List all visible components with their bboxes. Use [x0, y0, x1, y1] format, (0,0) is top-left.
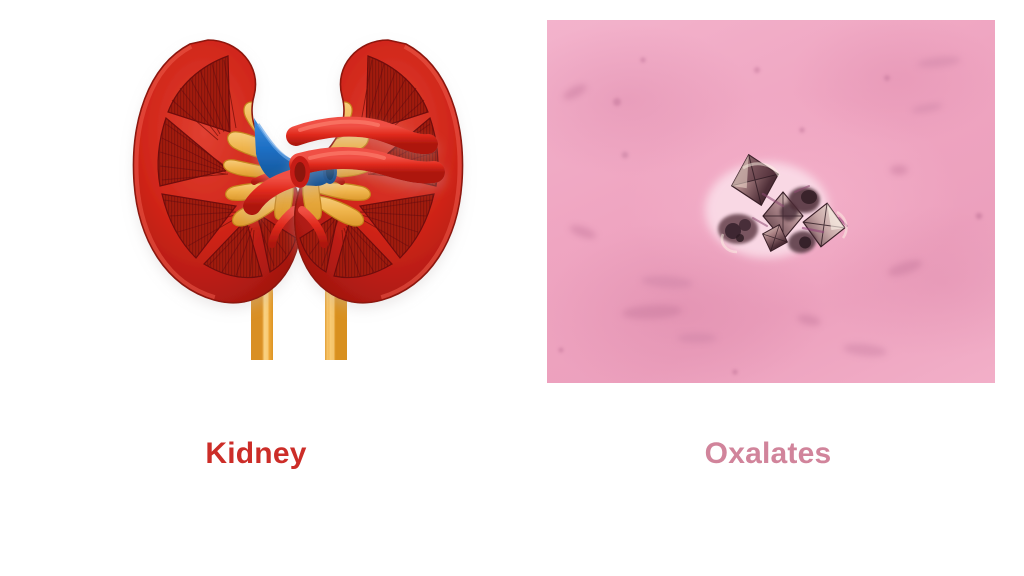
crystal-clump-lower-left [718, 214, 758, 244]
caption-oxalates: Oxalates [512, 434, 1024, 474]
calcium-oxalate-crystals-micrograph [547, 20, 995, 383]
panel-kidney: Kidney [0, 0, 512, 576]
caption-kidney: Kidney [0, 434, 512, 474]
slide-root: Kidney [0, 0, 1024, 576]
panel-oxalates: Oxalates [512, 0, 1024, 576]
kidney-cross-section-model [78, 14, 518, 360]
crystal-clump-upper-right [788, 187, 820, 213]
